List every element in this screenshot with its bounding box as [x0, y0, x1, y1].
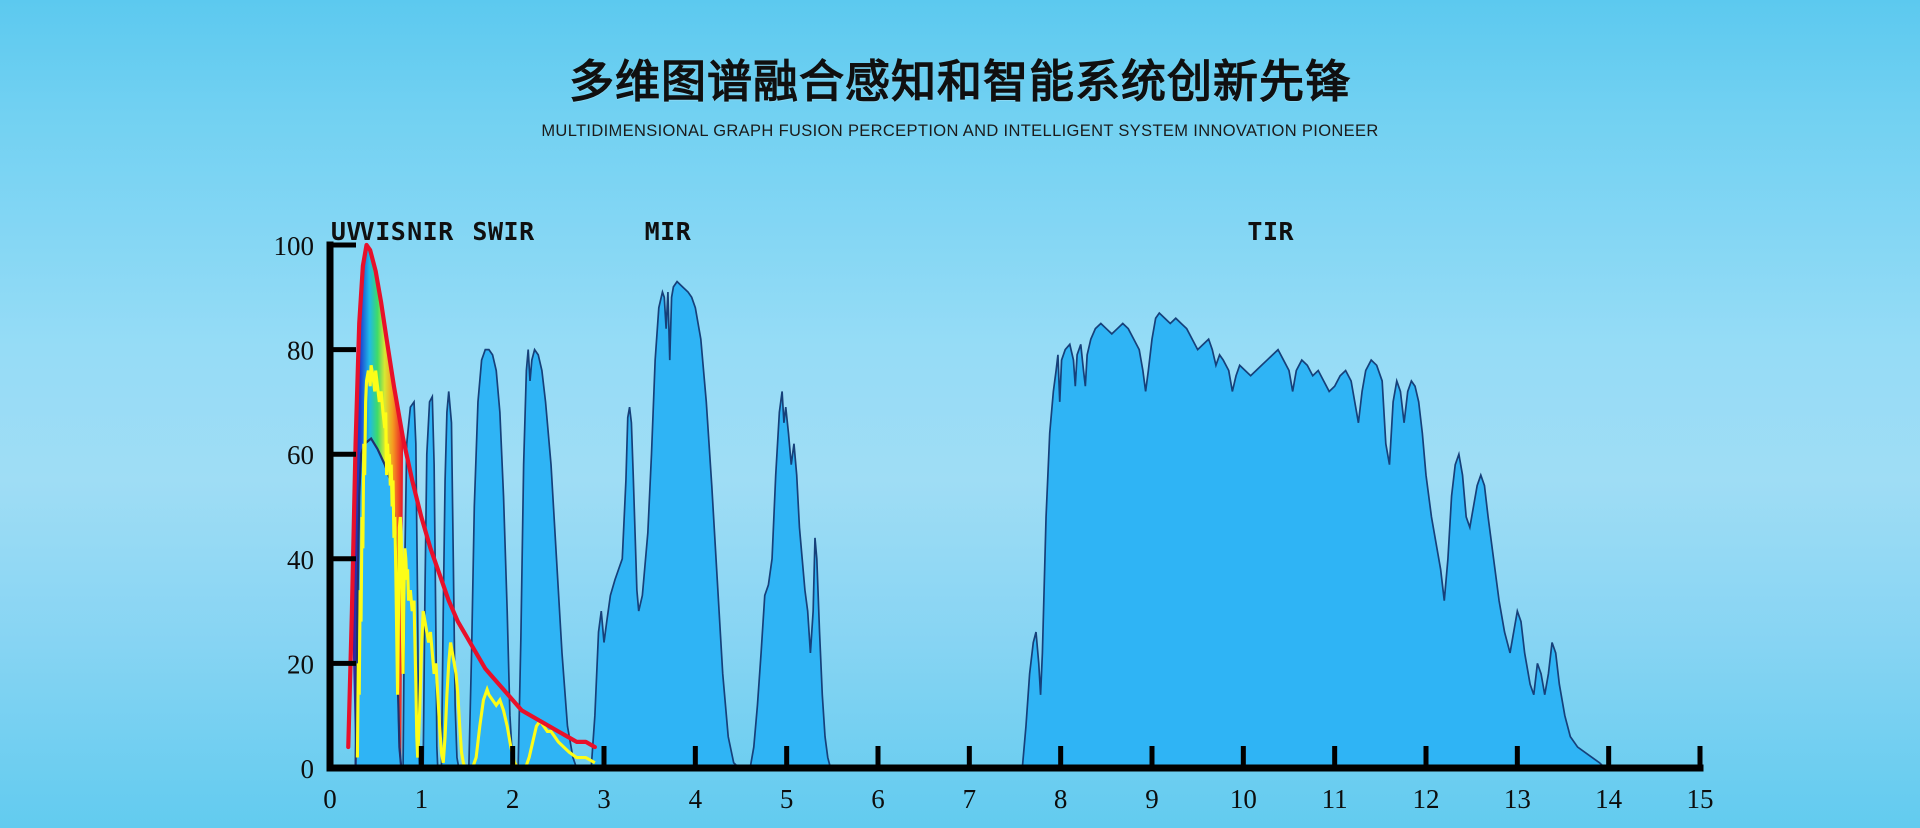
band-label-uv: UV: [331, 217, 362, 246]
band-labels-layer: UVVISNIRSWIRMIRTIR: [331, 217, 1295, 246]
x-tick-label: 15: [1687, 784, 1714, 814]
band-label-mir: MIR: [645, 217, 692, 246]
y-tick-label: 80: [287, 336, 314, 366]
x-tick-label: 8: [1054, 784, 1068, 814]
y-tick-label: 0: [301, 754, 315, 784]
x-tick-label: 3: [597, 784, 611, 814]
transmittance-band: [1022, 313, 1605, 768]
y-tick-label: 20: [287, 649, 314, 679]
title-block: 多维图谱融合感知和智能系统创新先锋 MULTIDIMENSIONAL GRAPH…: [0, 58, 1920, 141]
x-tick-label: 14: [1595, 784, 1623, 814]
spectrum-chart: UVVISNIRSWIRMIRTIR 012345678910111213141…: [0, 200, 1920, 828]
y-tick-label: 60: [287, 440, 314, 470]
x-tick-label: 11: [1322, 784, 1348, 814]
band-label-vis: VIS: [360, 217, 407, 246]
x-tick-label: 10: [1230, 784, 1257, 814]
page-title: 多维图谱融合感知和智能系统创新先锋: [0, 58, 1920, 105]
spectrum-chart-container: UVVISNIRSWIRMIRTIR 012345678910111213141…: [0, 200, 1920, 828]
page-subtitle: MULTIDIMENSIONAL GRAPH FUSION PERCEPTION…: [0, 122, 1920, 141]
y-tick-label: 40: [287, 545, 314, 575]
x-tick-label: 0: [323, 784, 337, 814]
y-tick-label: 100: [274, 231, 315, 261]
band-label-swir: SWIR: [472, 217, 535, 246]
x-tick-label: 6: [871, 784, 885, 814]
band-label-tir: TIR: [1247, 217, 1294, 246]
x-tick-label: 12: [1413, 784, 1440, 814]
x-tick-label: 1: [415, 784, 429, 814]
x-tick-label: 2: [506, 784, 520, 814]
poster-canvas: 多维图谱融合感知和智能系统创新先锋 MULTIDIMENSIONAL GRAPH…: [0, 0, 1920, 828]
band-label-nir: NIR: [407, 217, 454, 246]
x-tick-label: 5: [780, 784, 794, 814]
x-tick-label: 13: [1504, 784, 1531, 814]
x-tick-label: 4: [689, 784, 703, 814]
x-tick-label: 9: [1145, 784, 1159, 814]
transmittance-bands-layer: [356, 282, 1605, 768]
x-tick-label: 7: [963, 784, 977, 814]
transmittance-band: [356, 282, 831, 768]
